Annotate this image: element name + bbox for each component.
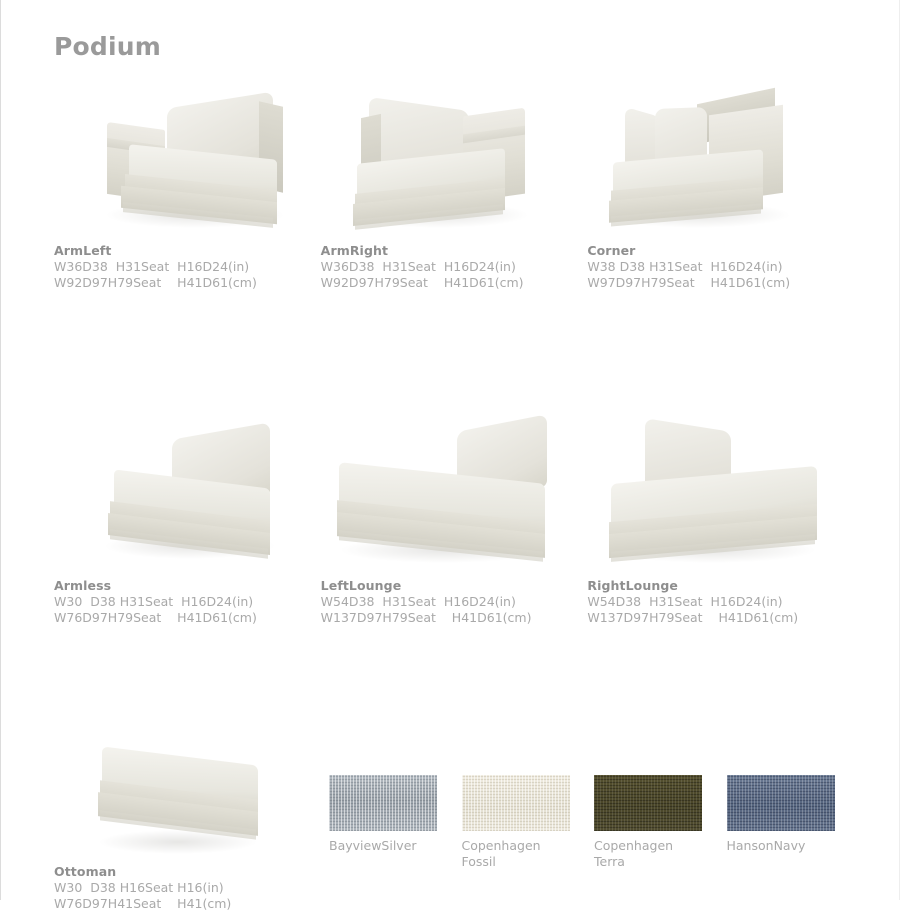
fabric-swatch-label: BayviewSilver (329, 838, 462, 854)
product-name: LeftLounge (321, 577, 588, 594)
product-dimensions-cm: W76D97H79Seat H41D61(cm) (54, 610, 321, 626)
product-card-armright[interactable]: ArmRight W36D38 H31Seat H16D24(in) W92D9… (321, 78, 588, 291)
product-image-rightlounge (587, 413, 854, 573)
product-name: Armless (54, 577, 321, 594)
product-name: ArmLeft (54, 242, 321, 259)
product-caption: RightLounge W54D38 H31Seat H16D24(in) W1… (587, 577, 854, 626)
product-dimensions-in: W38 D38 H31Seat H16D24(in) (587, 259, 854, 275)
product-dimensions-cm: W92D97H79Seat H41D61(cm) (321, 275, 588, 291)
product-dimensions-in: W30 D38 H16Seat H16(in) (54, 880, 321, 896)
product-dimensions-in: W30 D38 H31Seat H16D24(in) (54, 594, 321, 610)
fabric-swatch-bayview-silver[interactable] (329, 775, 437, 831)
product-image-armright (321, 78, 588, 238)
product-dimensions-cm: W137D97H79Seat H41D61(cm) (321, 610, 588, 626)
product-caption: LeftLounge W54D38 H31Seat H16D24(in) W13… (321, 577, 588, 626)
product-name: RightLounge (587, 577, 854, 594)
fabric-swatch-label: HansonNavy (727, 838, 860, 854)
product-name: ArmRight (321, 242, 588, 259)
product-image-armless (54, 413, 321, 573)
product-row: Armless W30 D38 H31Seat H16D24(in) W76D9… (54, 413, 854, 626)
product-card-ottoman[interactable]: Ottoman W30 D38 H16Seat H16(in) W76D97H4… (54, 744, 321, 912)
page-title: Podium (54, 32, 161, 61)
product-name: Corner (587, 242, 854, 259)
fabric-swatch-label: Copenhagen Terra (594, 838, 727, 870)
product-dimensions-cm: W97D97H79Seat H41D61(cm) (587, 275, 854, 291)
product-dimensions-cm: W92D97H79Seat H41D61(cm) (54, 275, 321, 291)
fabric-swatch-label: Copenhagen Fossil (462, 838, 595, 870)
product-caption: ArmRight W36D38 H31Seat H16D24(in) W92D9… (321, 242, 588, 291)
fabric-swatch-item[interactable]: Copenhagen Terra (594, 775, 727, 870)
catalog-page: Podium (0, 0, 900, 900)
product-caption: Armless W30 D38 H31Seat H16D24(in) W76D9… (54, 577, 321, 626)
product-dimensions-cm: W137D97H79Seat H41D61(cm) (587, 610, 854, 626)
product-card-armless[interactable]: Armless W30 D38 H31Seat H16D24(in) W76D9… (54, 413, 321, 626)
product-dimensions-in: W36D38 H31Seat H16D24(in) (54, 259, 321, 275)
product-name: Ottoman (54, 863, 321, 880)
product-row: ArmLeft W36D38 H31Seat H16D24(in) W92D97… (54, 78, 854, 291)
row-spacer (54, 626, 854, 744)
fabric-swatch-list: BayviewSilver Copenhagen Fossil Copenhag… (329, 775, 859, 870)
product-dimensions-cm: W76D97H41Seat H41(cm) (54, 896, 321, 912)
product-dimensions-in: W54D38 H31Seat H16D24(in) (587, 594, 854, 610)
fabric-swatch-copenhagen-fossil[interactable] (462, 775, 570, 831)
row-spacer (54, 291, 854, 413)
fabric-swatch-item[interactable]: BayviewSilver (329, 775, 462, 870)
product-image-ottoman (54, 744, 321, 859)
fabric-swatch-hanson-navy[interactable] (727, 775, 835, 831)
product-card-corner[interactable]: Corner W38 D38 H31Seat H16D24(in) W97D97… (587, 78, 854, 291)
product-dimensions-in: W36D38 H31Seat H16D24(in) (321, 259, 588, 275)
product-card-rightlounge[interactable]: RightLounge W54D38 H31Seat H16D24(in) W1… (587, 413, 854, 626)
fabric-swatch-copenhagen-terra[interactable] (594, 775, 702, 831)
product-image-armleft (54, 78, 321, 238)
product-dimensions-in: W54D38 H31Seat H16D24(in) (321, 594, 588, 610)
product-image-leftlounge (321, 413, 588, 573)
fabric-swatch-item[interactable]: Copenhagen Fossil (462, 775, 595, 870)
product-card-leftlounge[interactable]: LeftLounge W54D38 H31Seat H16D24(in) W13… (321, 413, 588, 626)
product-caption: Ottoman W30 D38 H16Seat H16(in) W76D97H4… (54, 863, 321, 912)
product-caption: Corner W38 D38 H31Seat H16D24(in) W97D97… (587, 242, 854, 291)
fabric-swatch-item[interactable]: HansonNavy (727, 775, 860, 870)
product-image-corner (587, 78, 854, 238)
product-card-armleft[interactable]: ArmLeft W36D38 H31Seat H16D24(in) W92D97… (54, 78, 321, 291)
product-caption: ArmLeft W36D38 H31Seat H16D24(in) W92D97… (54, 242, 321, 291)
